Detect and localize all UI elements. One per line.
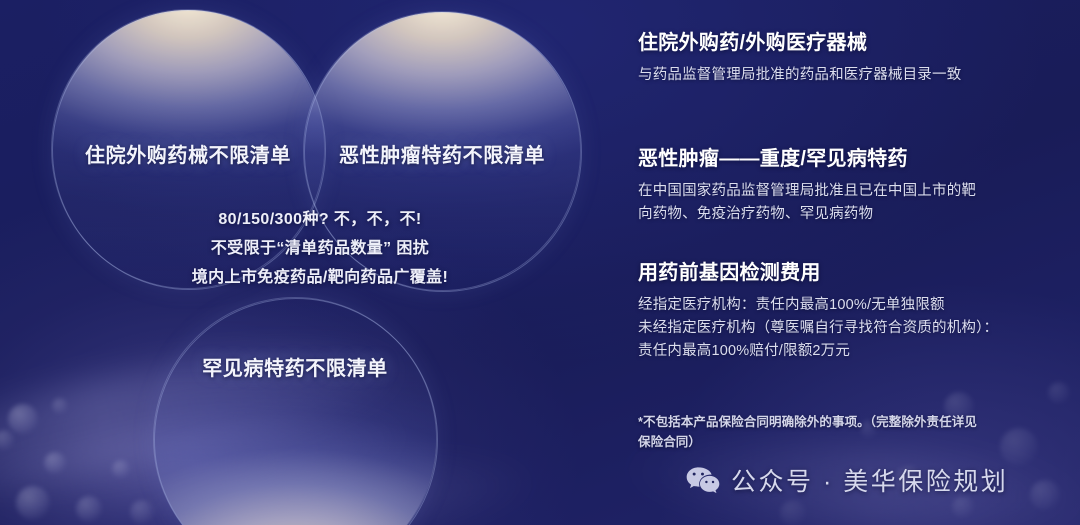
benefit-body-line: 责任内最高100%赔付/限额2万元 [638, 340, 1048, 363]
benefit-body: 在中国国家药品监督管理局批准且已在中国上市的靶 向药物、免疫治疗药物、罕见病药物 [638, 180, 1048, 226]
benefit-title: 住院外购药/外购医疗器械 [638, 26, 1048, 55]
disclaimer-footnote: *不包括本产品保险合同明确除外的事项。（完整除外责任详见 保险合同） [638, 412, 1038, 452]
benefit-block-outpatient-drugs: 住院外购药/外购医疗器械 与药品监督管理局批准的药品和医疗器械目录一致 [638, 26, 1048, 87]
benefit-body-line: 在中国国家药品监督管理局批准且已在中国上市的靶 [638, 180, 1048, 203]
venn-circle-outline-bottom [154, 298, 438, 525]
disclaimer-line: *不包括本产品保险合同明确除外的事项。（完整除外责任详见 [638, 412, 1038, 432]
benefit-block-genetic-testing: 用药前基因检测费用 经指定医疗机构：责任内最高100%/无单独限额 未经指定医疗… [638, 256, 1048, 363]
wechat-account-name: 公众号 · 美华保险规划 [731, 462, 1008, 498]
benefit-body-line: 与药品监督管理局批准的药品和医疗器械目录一致 [638, 64, 1048, 87]
benefit-title: 用药前基因检测费用 [638, 256, 1048, 285]
venn-center-text: 80/150/300种? 不，不，不! 不受限于“清单药品数量” 困扰 境内上市… [120, 205, 520, 292]
slide-canvas: 住院外购药械不限清单 恶性肿瘤特药不限清单 罕见病特药不限清单 80/150/3… [0, 0, 1080, 525]
venn-label-left: 住院外购药械不限清单 [52, 139, 324, 168]
benefit-body-line: 向药物、免疫治疗药物、罕见病药物 [638, 203, 1048, 226]
venn-diagram: 住院外购药械不限清单 恶性肿瘤特药不限清单 罕见病特药不限清单 80/150/3… [0, 0, 620, 525]
benefits-panel: 住院外购药/外购医疗器械 与药品监督管理局批准的药品和医疗器械目录一致 恶性肿瘤… [638, 0, 1058, 525]
wechat-account-footer: 公众号 · 美华保险规划 [686, 462, 1008, 498]
venn-label-right: 恶性肿瘤特药不限清单 [304, 139, 580, 168]
wechat-icon [686, 466, 720, 494]
disclaimer-line: 保险合同） [638, 432, 1038, 452]
benefit-body-line: 未经指定医疗机构（尊医嘱自行寻找符合资质的机构）： [638, 317, 1048, 340]
benefit-title: 恶性肿瘤——重度/罕见病特药 [638, 142, 1048, 171]
benefit-body-line: 经指定医疗机构：责任内最高100%/无单独限额 [638, 294, 1048, 317]
venn-center-line: 80/150/300种? 不，不，不! [120, 205, 520, 234]
benefit-block-oncology-drugs: 恶性肿瘤——重度/罕见病特药 在中国国家药品监督管理局批准且已在中国上市的靶 向… [638, 142, 1048, 226]
benefit-body: 与药品监督管理局批准的药品和医疗器械目录一致 [638, 64, 1048, 87]
benefit-body: 经指定医疗机构：责任内最高100%/无单独限额 未经指定医疗机构（尊医嘱自行寻找… [638, 294, 1048, 363]
venn-label-bottom: 罕见病特药不限清单 [154, 352, 436, 381]
venn-center-line: 境内上市免疫药品/靶向药品广覆盖! [120, 263, 520, 292]
venn-center-line: 不受限于“清单药品数量” 困扰 [120, 234, 520, 263]
